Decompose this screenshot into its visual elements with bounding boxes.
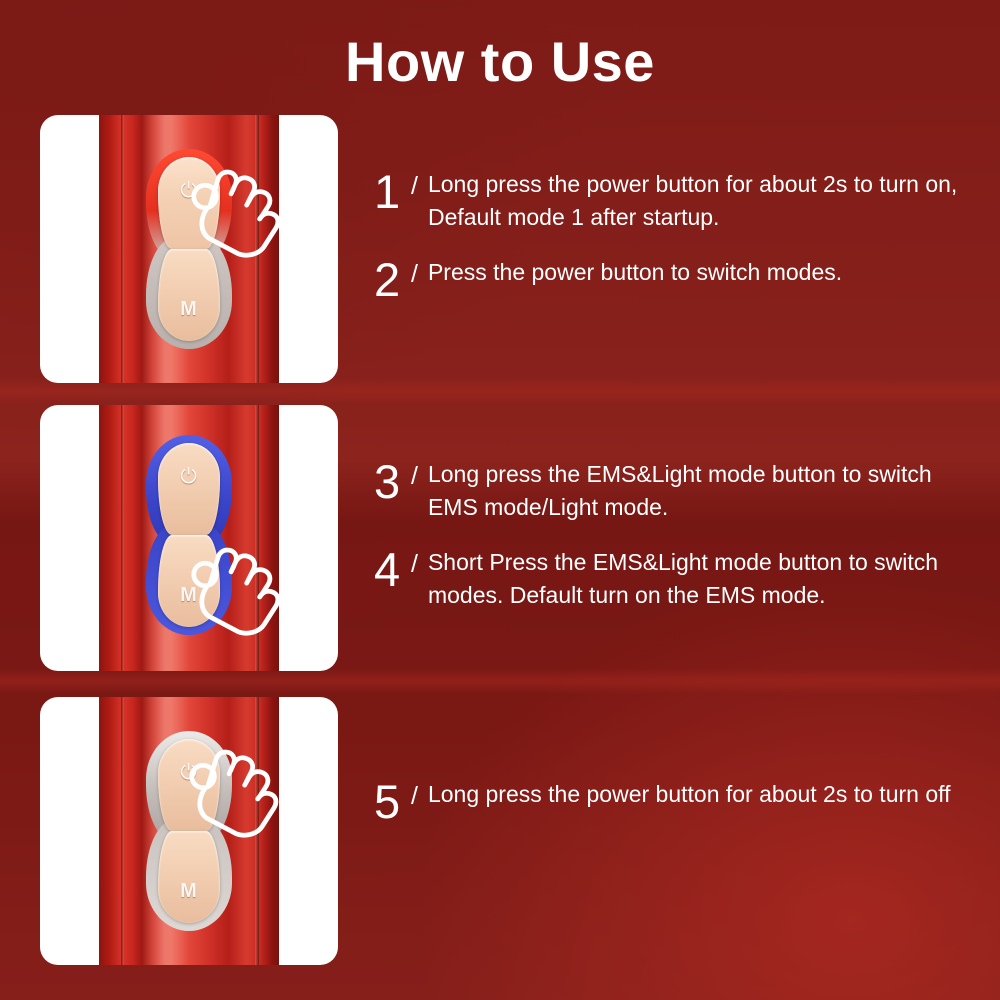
step-text: Short Press the EMS&Light mode button to… [428,546,958,612]
row-divider-2 [0,668,1000,694]
mode-icon: M [180,882,198,901]
pointing-hand-icon-3 [184,747,288,851]
step-number: 3 [374,458,408,505]
step-text: Long press the power button for about 2s… [428,778,951,811]
step-separator: / [411,546,418,582]
step-group-3: 5 / Long press the power button for abou… [374,778,974,825]
how-to-use-infographic: How to Use ⏻ M [0,0,1000,1000]
product-image-card-2: ⏻ M [40,405,338,671]
step-separator: / [411,458,418,494]
step-item-4: 4 / Short Press the EMS&Light mode butto… [374,546,974,612]
step-item-3: 3 / Long press the EMS&Light mode button… [374,458,974,524]
product-image-card-1: ⏻ M [40,115,338,383]
step-text: Long press the power button for about 2s… [428,168,958,234]
step-group-2: 3 / Long press the EMS&Light mode button… [374,458,974,612]
step-item-5: 5 / Long press the power button for abou… [374,778,974,825]
step-item-2: 2 / Press the power button to switch mod… [374,256,974,303]
power-icon: ⏻ [180,467,198,486]
step-number: 1 [374,168,408,215]
step-separator: / [411,168,418,204]
step-number: 5 [374,778,408,825]
power-button-2[interactable]: ⏻ [158,443,220,535]
pointing-hand-icon-1 [186,167,290,271]
step-separator: / [411,778,418,814]
step-number: 2 [374,256,408,303]
pointing-hand-icon-2 [186,545,290,649]
step-separator: / [411,256,418,292]
step-number: 4 [374,546,408,593]
product-image-card-3: ⏻ M [40,697,338,965]
step-text: Long press the EMS&Light mode button to … [428,458,958,524]
page-title: How to Use [0,26,1000,98]
step-text: Press the power button to switch modes. [428,256,842,289]
step-group-1: 1 / Long press the power button for abou… [374,168,974,303]
mode-icon: M [180,300,198,319]
step-item-1: 1 / Long press the power button for abou… [374,168,974,234]
